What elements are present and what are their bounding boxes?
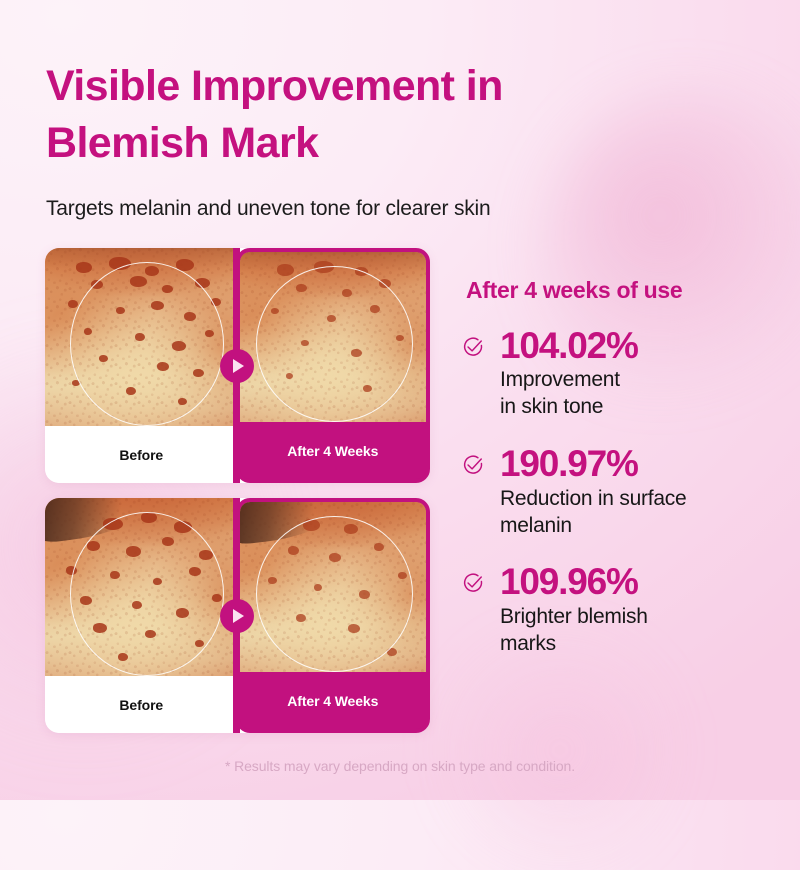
stats-heading: After 4 weeks of use — [466, 277, 682, 304]
after-label: After 4 Weeks — [240, 422, 426, 479]
check-circle-icon — [462, 336, 484, 358]
stat-label: Brighter blemish marks — [500, 604, 782, 658]
focus-circle-overlay — [70, 262, 224, 426]
comparison-card[interactable]: Before After 4 Weeks — [45, 498, 430, 733]
before-pane: Before — [45, 248, 238, 483]
check-circle-icon — [462, 454, 484, 476]
play-triangle-icon[interactable] — [220, 599, 254, 633]
play-triangle-icon[interactable] — [220, 349, 254, 383]
stat-item: 104.02% Improvement in skin tone — [462, 325, 782, 421]
page-subtitle: Targets melanin and uneven tone for clea… — [46, 195, 706, 222]
stat-label: Improvement in skin tone — [500, 367, 782, 421]
before-label: Before — [45, 676, 238, 733]
before-photo — [45, 498, 238, 676]
footer-disclaimer: * Results may vary depending on skin typ… — [0, 758, 800, 774]
before-label: Before — [45, 426, 238, 483]
before-pane: Before — [45, 498, 238, 733]
stat-value: 190.97% — [500, 443, 782, 484]
after-pane: After 4 Weeks — [236, 248, 430, 483]
stats-list: 104.02% Improvement in skin tone 190.97%… — [462, 325, 782, 680]
after-photo — [240, 502, 426, 672]
focus-circle-overlay — [256, 266, 413, 422]
stat-item: 190.97% Reduction in surface melanin — [462, 443, 782, 539]
stat-value: 104.02% — [500, 325, 782, 366]
before-photo — [45, 248, 238, 426]
comparison-card[interactable]: Before After 4 Wee — [45, 248, 430, 483]
stat-item: 109.96% Brighter blemish marks — [462, 561, 782, 657]
after-photo — [240, 252, 426, 422]
page-title: Visible Improvement in Blemish Mark — [46, 58, 686, 172]
focus-circle-overlay — [256, 516, 413, 672]
stat-label: Reduction in surface melanin — [500, 486, 782, 540]
stat-value: 109.96% — [500, 561, 782, 602]
after-label: After 4 Weeks — [240, 672, 426, 729]
check-circle-icon — [462, 572, 484, 594]
after-pane: After 4 Weeks — [236, 498, 430, 733]
focus-circle-overlay — [70, 512, 224, 676]
